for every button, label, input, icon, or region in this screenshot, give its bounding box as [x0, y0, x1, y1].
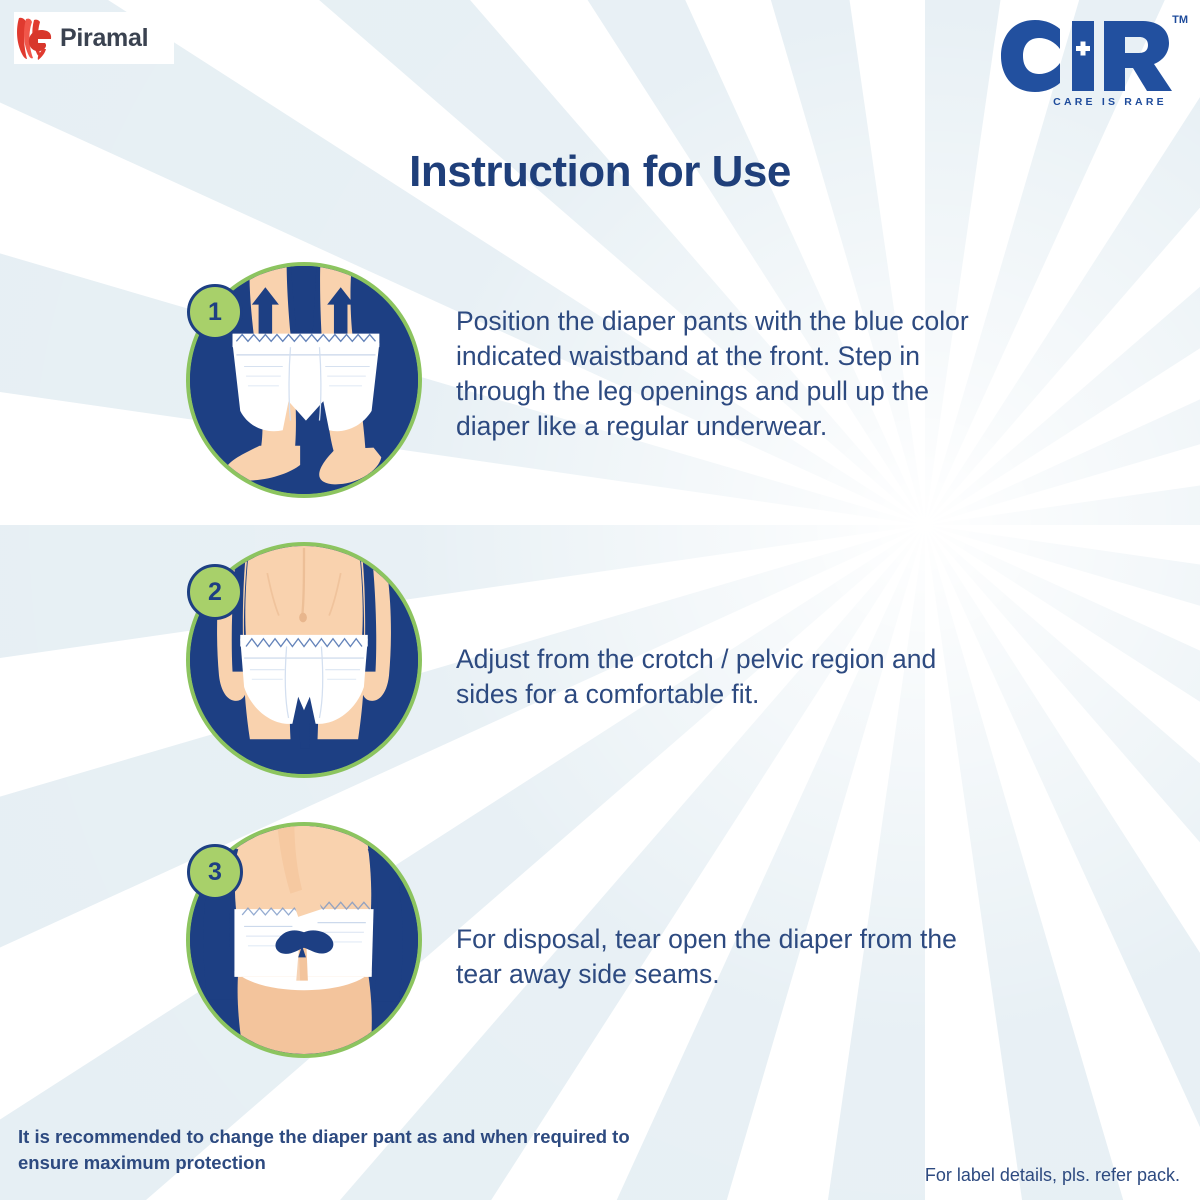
- piramal-wordmark: Piramal: [60, 26, 148, 51]
- step-2-figure: 2: [186, 542, 422, 778]
- label-details-note: For label details, pls. refer pack.: [925, 1165, 1180, 1186]
- trademark-symbol: TM: [1172, 14, 1188, 26]
- recommendation-note: It is recommended to change the diaper p…: [18, 1124, 668, 1176]
- step-3-badge: 3: [187, 844, 243, 900]
- step-1-badge: 1: [187, 284, 243, 340]
- step-2-badge: 2: [187, 564, 243, 620]
- step-3-text: For disposal, tear open the diaper from …: [456, 922, 976, 992]
- cir-logo-mark: [992, 6, 1192, 106]
- step-1-figure: 1: [186, 262, 422, 498]
- piramal-logo: Piramal: [14, 12, 174, 64]
- page-title: Instruction for Use: [0, 147, 1200, 197]
- piramal-flame-icon: [14, 16, 54, 60]
- cir-logo: TM CARE IS RARE: [992, 6, 1192, 114]
- step-2-text: Adjust from the crotch / pelvic region a…: [456, 642, 976, 712]
- step-1-text: Position the diaper pants with the blue …: [456, 304, 976, 444]
- cir-tagline: CARE IS RARE: [1034, 96, 1186, 108]
- step-3-figure: 3: [186, 822, 422, 1058]
- instruction-poster: Piramal TM CARE IS RARE Instruction for …: [0, 0, 1200, 1200]
